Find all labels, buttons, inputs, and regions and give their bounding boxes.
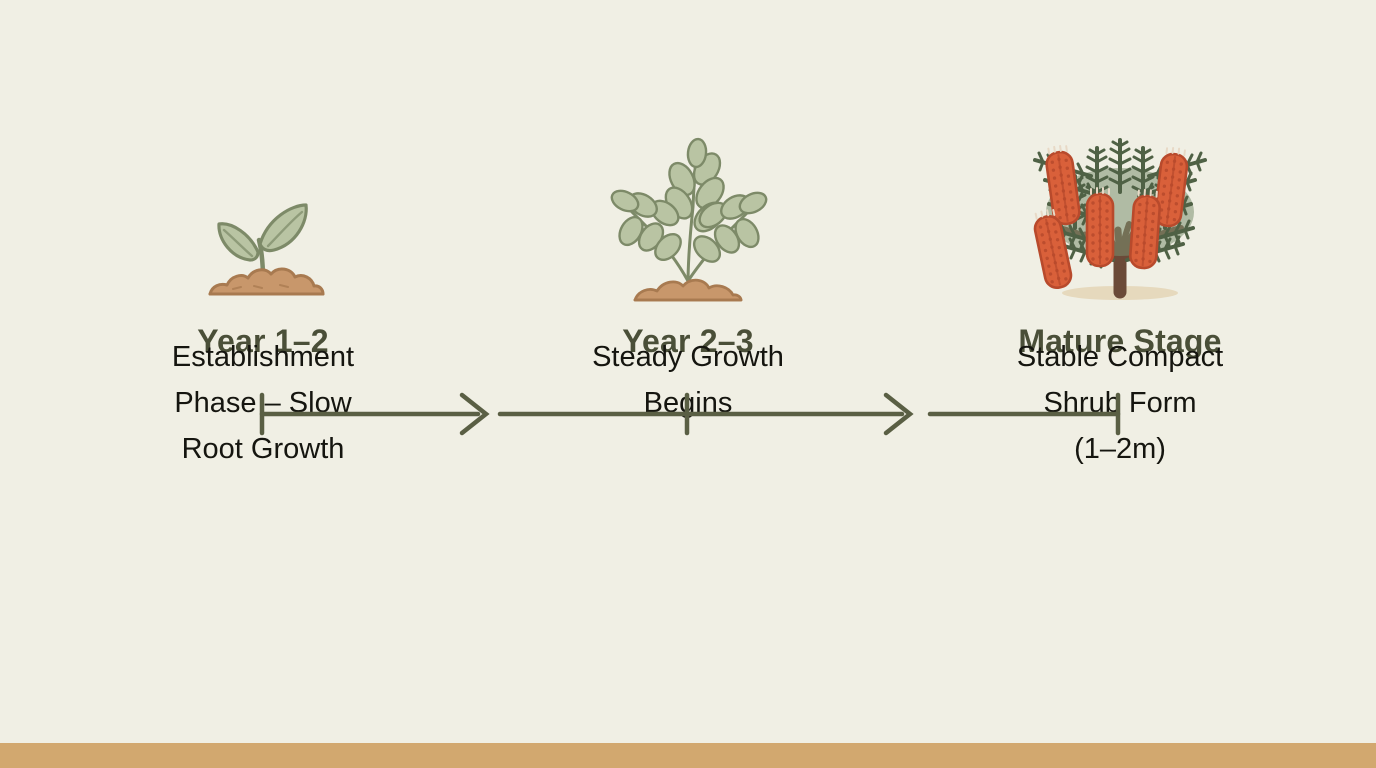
seedling-illustration	[98, 120, 428, 310]
bottom-accent-bar	[0, 743, 1376, 768]
sapling-icon	[603, 135, 773, 310]
banksia-shrub-icon	[1005, 120, 1235, 310]
desc-line: Establishment	[98, 335, 428, 381]
growth-timeline-infographic: Year 1–2 Establishment Phase – Slow Root…	[0, 0, 1376, 768]
stage-sapling: Year 2–3	[523, 120, 853, 359]
desc-line: Steady Growth	[523, 335, 853, 381]
stage-mature: Mature Stage	[955, 120, 1285, 359]
sapling-illustration	[523, 120, 853, 310]
timeline-axis	[0, 385, 1376, 445]
desc-line: Stable Compact	[955, 335, 1285, 381]
banksia-shrub-illustration	[955, 120, 1285, 310]
stage-seedling: Year 1–2	[98, 120, 428, 359]
seedling-icon	[188, 160, 338, 310]
